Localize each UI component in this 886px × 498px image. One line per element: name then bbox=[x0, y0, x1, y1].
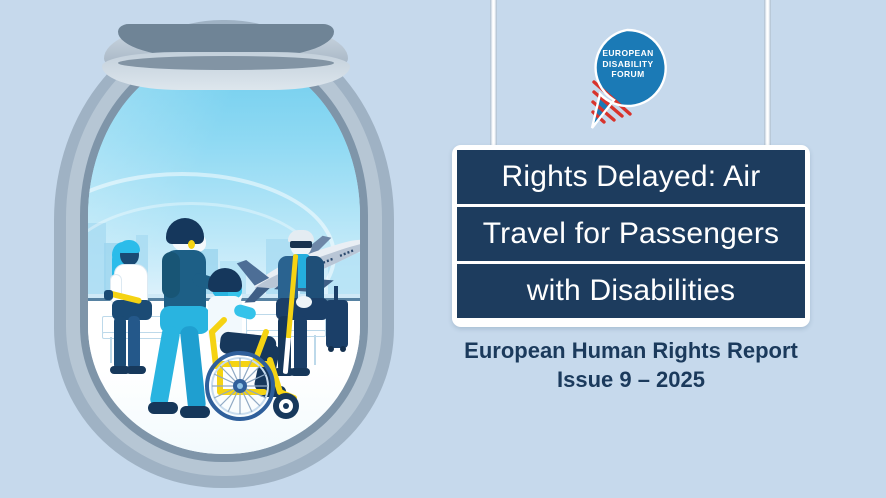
earring-icon bbox=[188, 240, 195, 249]
sign-post-right bbox=[764, 0, 771, 152]
subtitle-line-2: Issue 9 – 2025 bbox=[434, 365, 828, 394]
sign-band-1: Rights Delayed: Air bbox=[457, 150, 805, 204]
figure-attendant-and-wheelchair-user bbox=[154, 194, 314, 434]
title-sign: Rights Delayed: Air Travel for Passenger… bbox=[452, 145, 810, 327]
sign-post-left bbox=[490, 0, 497, 152]
sign-band-3: with Disabilities bbox=[457, 264, 805, 318]
subtitle-line-1: European Human Rights Report bbox=[434, 336, 828, 365]
logo-text: EUROPEAN DISABILITY FORUM bbox=[590, 48, 666, 80]
european-disability-forum-logo[interactable]: EUROPEAN DISABILITY FORUM bbox=[578, 28, 672, 132]
hair-icon bbox=[166, 218, 204, 244]
poster-canvas: EUROPEAN DISABILITY FORUM Rights Delayed… bbox=[0, 0, 886, 498]
logo-line-3: FORUM bbox=[590, 69, 666, 80]
suitcase-icon bbox=[326, 300, 348, 348]
sign-band-2: Travel for Passengers bbox=[457, 207, 805, 261]
logo-line-1: EUROPEAN bbox=[590, 48, 666, 59]
hair-icon bbox=[208, 268, 242, 292]
logo-line-2: DISABILITY bbox=[590, 59, 666, 70]
wheelchair-icon bbox=[194, 314, 320, 424]
airplane-window-illustration bbox=[14, 8, 434, 492]
logo-bubble-icon bbox=[578, 28, 672, 132]
report-subtitle: European Human Rights Report Issue 9 – 2… bbox=[434, 336, 828, 394]
window-shade-groove bbox=[118, 56, 334, 70]
window-glass bbox=[88, 52, 360, 454]
